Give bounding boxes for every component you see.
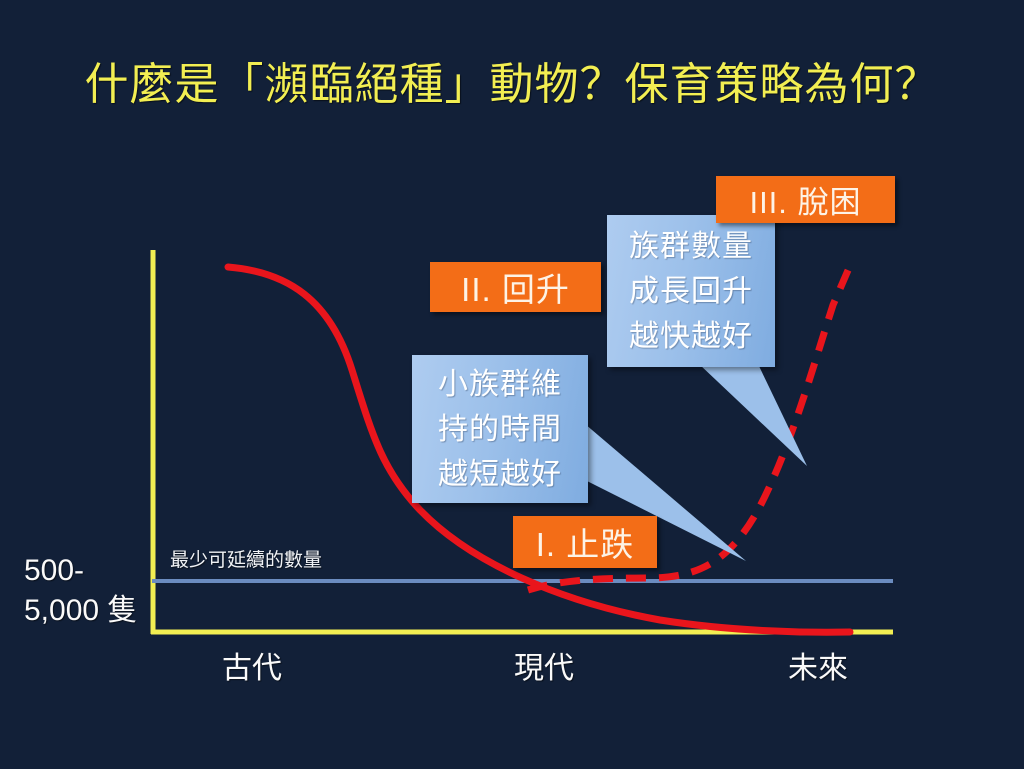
slide-canvas: 什麼是「瀕臨絕種」動物？保育策略為何？ 小族群維 持的時間 越短越好 xyxy=(0,0,1024,764)
callout-small-population-duration: 小族群維 持的時間 越短越好 xyxy=(412,355,588,503)
callout-small-line-2: 持的時間 xyxy=(438,407,562,452)
stage-tag-escape-danger: III. 脫困 xyxy=(716,176,895,223)
threshold-line-label: 最少可延續的數量 xyxy=(170,549,322,573)
stage-tag-rebound: II. 回升 xyxy=(430,262,601,312)
y-axis-label-line-2: 5,000 隻 xyxy=(24,591,148,631)
callout-large-line-2: 成長回升 xyxy=(629,269,753,314)
callout-small-line-3: 越短越好 xyxy=(438,452,562,497)
x-axis-tick-future: 未來 xyxy=(758,651,878,687)
x-axis-tick-ancient: 古代 xyxy=(192,651,312,687)
callout-large-line-3: 越快越好 xyxy=(629,314,753,359)
callout-population-growth-rebound: 族群數量 成長回升 越快越好 xyxy=(607,215,775,367)
y-axis-label: 500- 5,000 隻 xyxy=(24,551,148,631)
callout-large-line-1: 族群數量 xyxy=(629,224,753,269)
x-axis-tick-present: 現代 xyxy=(484,651,604,687)
callout-small-line-1: 小族群維 xyxy=(438,362,562,407)
y-axis-label-line-1: 500- xyxy=(24,551,148,591)
stage-tag-stop-decline: I. 止跌 xyxy=(513,516,657,568)
